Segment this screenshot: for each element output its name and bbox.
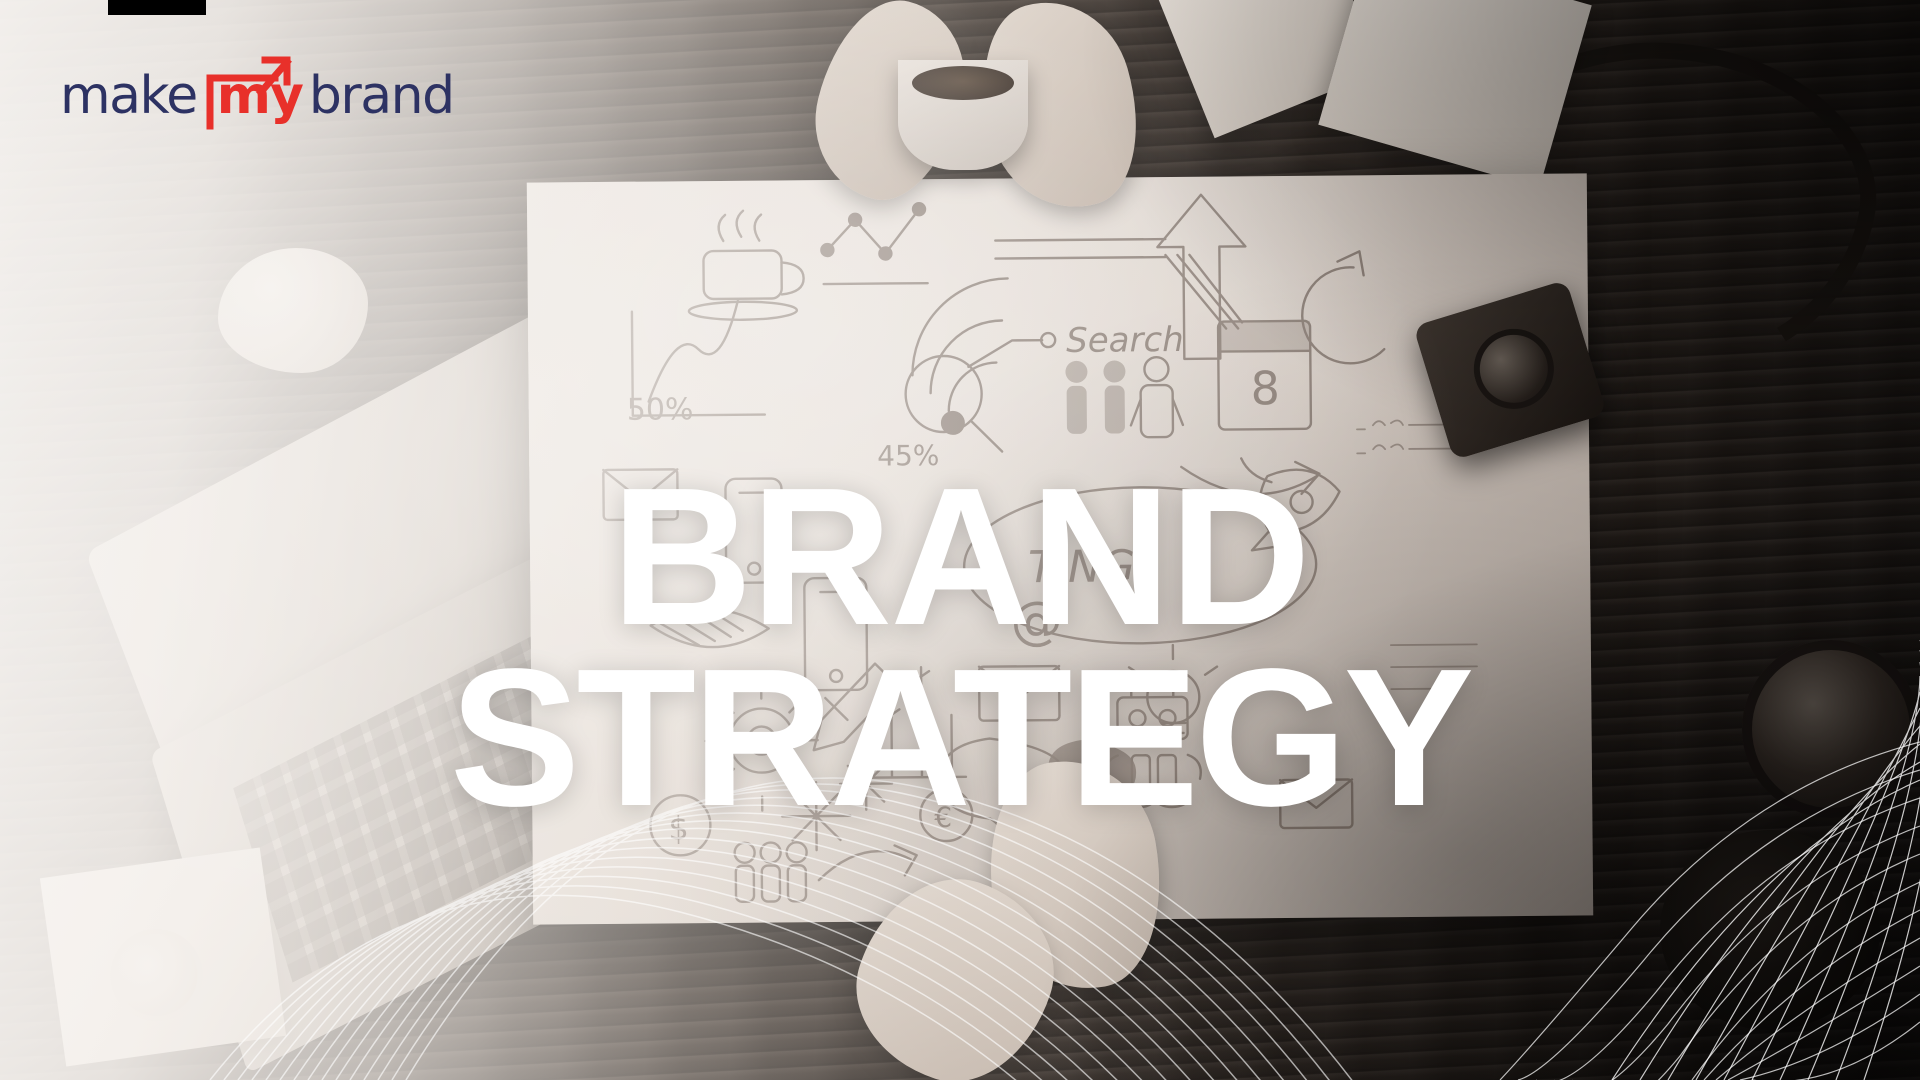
growth-arrow-icon: [205, 54, 315, 126]
makemybrand-logo[interactable]: make my brand: [60, 60, 454, 122]
headline-line-1: BRAND: [0, 467, 1920, 647]
logo-text-brand: brand: [309, 70, 454, 122]
logo-my-group: my: [205, 70, 303, 122]
top-black-bar: [108, 0, 206, 15]
logo-text-make: make: [60, 70, 197, 122]
banner-canvas: Search 8: [0, 0, 1920, 1080]
headline-line-2: STRATEGY: [0, 648, 1920, 828]
page-title: BRAND STRATEGY: [0, 467, 1920, 828]
